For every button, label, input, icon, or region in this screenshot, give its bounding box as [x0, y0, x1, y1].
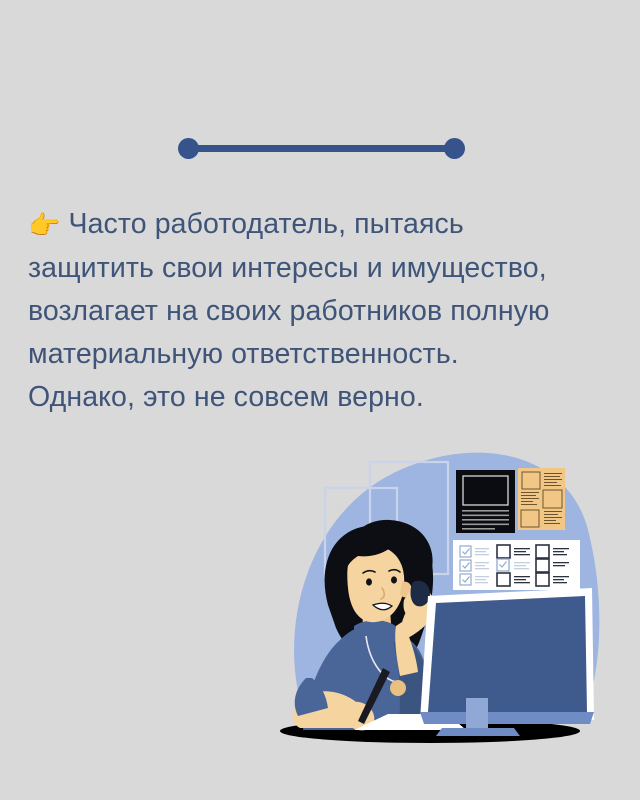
monitor-screen: [428, 596, 587, 712]
slide-canvas: 👉 Часто работодатель, пытаясь защитить с…: [0, 0, 640, 800]
divider-right-dot-icon: [444, 138, 465, 159]
headline-text: 👉 Часто работодатель, пытаясь защитить с…: [28, 203, 573, 419]
eye-right: [391, 576, 397, 583]
computer-monitor: [420, 588, 594, 736]
monitor-stand-base: [436, 728, 520, 736]
headline-body: Часто работодатель, пытаясь защитить сво…: [28, 208, 558, 413]
divider-bar: [188, 145, 455, 152]
orange-poster: [518, 468, 565, 530]
illustration-woman-on-phone: [270, 440, 640, 800]
monitor-body-bottom: [420, 712, 594, 724]
dark-poster: [456, 470, 515, 533]
monitor-stand-neck: [466, 698, 488, 732]
checklist-sheet: [453, 540, 580, 590]
necklace-pendant: [390, 680, 406, 696]
decorative-divider: [178, 138, 465, 159]
eye-left: [366, 578, 372, 585]
pointing-right-hand-icon: 👉: [28, 210, 60, 240]
